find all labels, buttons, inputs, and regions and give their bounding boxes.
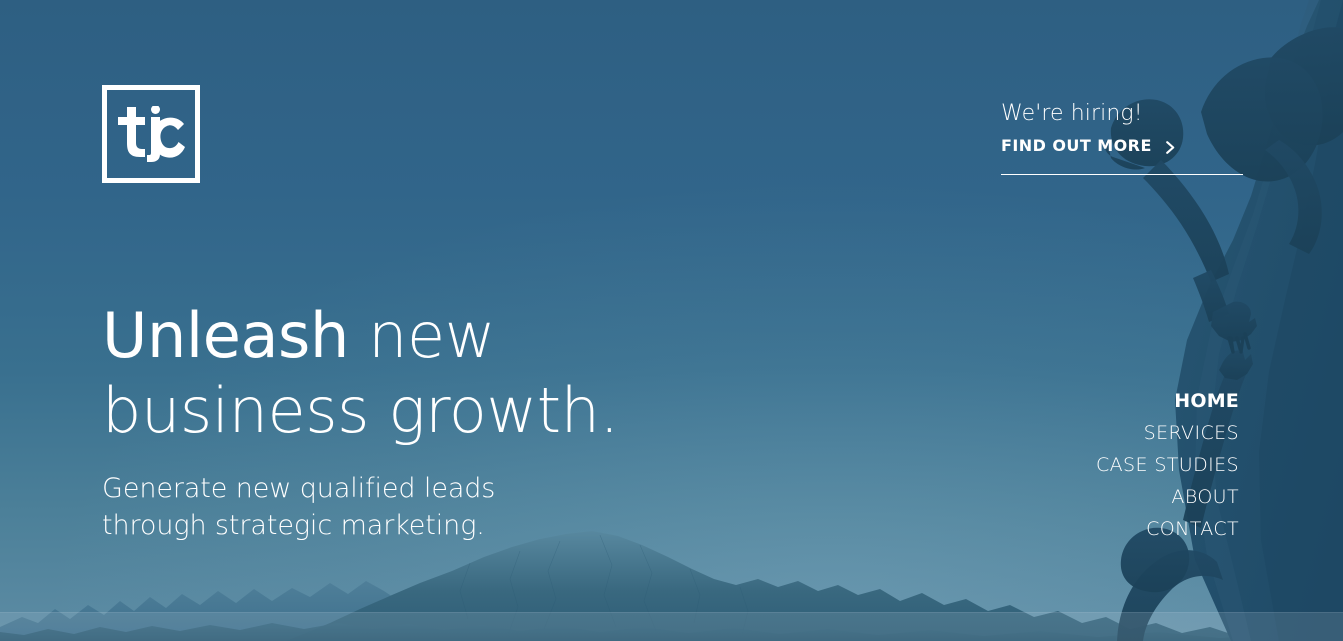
find-out-more-link[interactable]: FIND OUT MORE xyxy=(1001,136,1243,155)
subhead-line-1: Generate new qualified leads xyxy=(102,470,495,507)
headline-line-1: Unleash new xyxy=(102,298,722,373)
bottom-overlay-bar xyxy=(0,612,1343,641)
nav-item-contact[interactable]: CONTACT xyxy=(1096,513,1239,545)
tjc-logo[interactable] xyxy=(102,85,200,183)
nav-item-home[interactable]: HOME xyxy=(1096,385,1239,417)
find-out-more-label: FIND OUT MORE xyxy=(1001,136,1152,155)
hero-section: We're hiring! FIND OUT MORE Unleash new … xyxy=(0,0,1343,641)
chevron-right-icon xyxy=(1164,139,1177,152)
hiring-callout[interactable]: We're hiring! FIND OUT MORE xyxy=(1001,100,1243,175)
nav-item-services[interactable]: SERVICES xyxy=(1096,417,1239,449)
nav-item-case-studies[interactable]: CASE STUDIES xyxy=(1096,449,1239,481)
headline-line-2: business growth. xyxy=(102,373,722,448)
page-title: Unleash new business growth. xyxy=(102,298,722,448)
main-navigation[interactable]: HOME SERVICES CASE STUDIES ABOUT CONTACT xyxy=(1096,385,1239,545)
logo-mark-icon xyxy=(107,90,195,178)
headline-emphasis: Unleash xyxy=(102,299,349,372)
hiring-divider xyxy=(1001,174,1243,175)
subhead-line-2: through strategic marketing. xyxy=(102,507,495,544)
hero-subhead: Generate new qualified leads through str… xyxy=(102,470,495,544)
headline-line-1-rest: new xyxy=(349,299,495,372)
nav-item-about[interactable]: ABOUT xyxy=(1096,481,1239,513)
hiring-title: We're hiring! xyxy=(1001,100,1243,128)
